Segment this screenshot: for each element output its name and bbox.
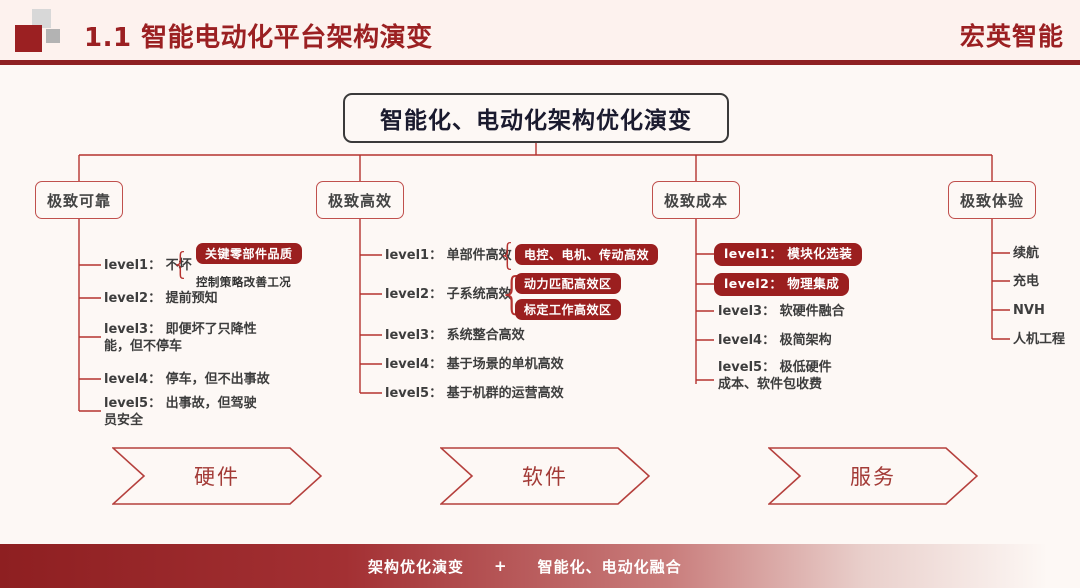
list-item: level5： 出事故，但驾驶 员安全 — [104, 395, 257, 429]
chevron-label: 硬件 — [112, 447, 322, 505]
brand-logo-text: 宏英智能 — [960, 17, 1064, 53]
decor-square-gray-icon — [46, 29, 60, 43]
slide-canvas: 1.1 智能电动化平台架构演变 宏英智能 — [0, 0, 1080, 588]
category-label: 极致高效 — [328, 190, 392, 211]
badge-level1-modular: level1： 模块化选装 — [714, 243, 862, 266]
badge-calibration-zone: 标定工作高效区 — [515, 299, 621, 320]
list-item: level5： 极低硬件 成本、软件包收费 — [718, 359, 832, 393]
list-item: level2： 子系统高效 — [385, 286, 512, 303]
list-item: level4： 极简架构 — [718, 332, 832, 349]
list-item: level5： 基于机群的运营高效 — [385, 385, 564, 402]
list-item: level4： 停车，但不出事故 — [104, 371, 270, 388]
category-label: 极致成本 — [664, 190, 728, 211]
category-box-experience[interactable]: 极致体验 — [948, 181, 1036, 219]
chevron-service[interactable]: 服务 — [768, 447, 978, 505]
footer-right-label: 智能化、电动化融合 — [538, 556, 682, 577]
badge-drive-efficiency: 电控、电机、传动高效 — [515, 244, 658, 265]
brace-icon: { — [171, 250, 190, 280]
list-item: level1： 单部件高效 — [385, 247, 512, 264]
list-item: 充电 — [1013, 273, 1039, 290]
chevron-label: 软件 — [440, 447, 650, 505]
list-item: 人机工程 — [1013, 331, 1065, 348]
note-control-strategy: 控制策略改善工况 — [196, 274, 291, 290]
badge-key-component-quality: 关键零部件品质 — [196, 243, 302, 264]
chevron-hardware[interactable]: 硬件 — [112, 447, 322, 505]
badge-power-match-zone: 动力匹配高效区 — [515, 273, 621, 294]
slide-footer: 架构优化演变 + 智能化、电动化融合 — [0, 544, 1080, 588]
slide-header: 1.1 智能电动化平台架构演变 宏英智能 — [0, 0, 1080, 62]
category-label: 极致体验 — [960, 190, 1024, 211]
category-box-cost[interactable]: 极致成本 — [652, 181, 740, 219]
root-title-label: 智能化、电动化架构优化演变 — [380, 101, 692, 135]
chevron-software[interactable]: 软件 — [440, 447, 650, 505]
chevron-label: 服务 — [768, 447, 978, 505]
list-item: level4： 基于场景的单机高效 — [385, 356, 564, 373]
list-item: level3： 软硬件融合 — [718, 303, 845, 320]
badge-level2-physical-integration: level2： 物理集成 — [714, 273, 849, 296]
root-title-box: 智能化、电动化架构优化演变 — [343, 93, 729, 143]
footer-left-label: 架构优化演变 — [368, 556, 464, 577]
category-box-reliability[interactable]: 极致可靠 — [35, 181, 123, 219]
list-item: level3： 即便坏了只降性 能，但不停车 — [104, 321, 257, 355]
list-item: level2： 提前预知 — [104, 290, 218, 307]
header-divider — [0, 60, 1080, 65]
category-label: 极致可靠 — [47, 190, 111, 211]
footer-plus-icon: + — [494, 557, 508, 575]
category-box-efficiency[interactable]: 极致高效 — [316, 181, 404, 219]
page-title: 1.1 智能电动化平台架构演变 — [84, 17, 433, 54]
decor-square-red-icon — [15, 25, 42, 52]
list-item: level3： 系统整合高效 — [385, 327, 525, 344]
list-item: NVH — [1013, 302, 1045, 319]
list-item: 续航 — [1013, 245, 1039, 262]
